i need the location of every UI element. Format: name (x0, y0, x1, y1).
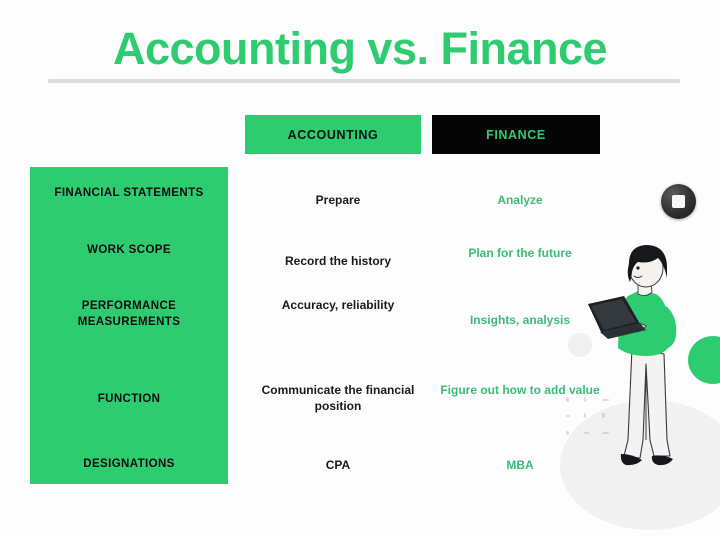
title-divider (48, 79, 680, 83)
stop-button-icon[interactable] (661, 184, 696, 219)
person-with-laptop-illustration (588, 244, 706, 486)
row-label-function: FUNCTION (30, 392, 228, 408)
row-label-financial-statements: FINANCIAL STATEMENTS (30, 186, 228, 202)
column-header-finance-label: FINANCE (486, 128, 546, 142)
row-label-work-scope: WORK SCOPE (30, 243, 228, 259)
column-header-finance: FINANCE (432, 115, 600, 154)
stop-button-square (672, 195, 685, 208)
cell-accounting-work-scope: Record the history (245, 253, 431, 269)
slide-canvas: Accounting vs. Finance ACCOUNTING FINANC… (0, 0, 720, 539)
cell-finance-financial-statements: Analyze (434, 192, 606, 208)
cell-accounting-function: Communicate the financial position (245, 382, 431, 414)
page-title: Accounting vs. Finance (0, 24, 720, 74)
row-label-performance-measurements: PERFORMANCE MEASUREMENTS (30, 299, 228, 330)
cell-accounting-designations: CPA (245, 457, 431, 473)
column-header-accounting-label: ACCOUNTING (288, 128, 379, 142)
row-label-designations: DESIGNATIONS (30, 457, 228, 473)
cell-finance-performance-measurements: Insights, analysis (434, 312, 606, 328)
column-header-accounting: ACCOUNTING (245, 115, 421, 154)
cell-finance-work-scope: Plan for the future (434, 245, 606, 261)
cell-accounting-performance-measurements: Accuracy, reliability (245, 297, 431, 313)
cell-accounting-financial-statements: Prepare (245, 192, 431, 208)
